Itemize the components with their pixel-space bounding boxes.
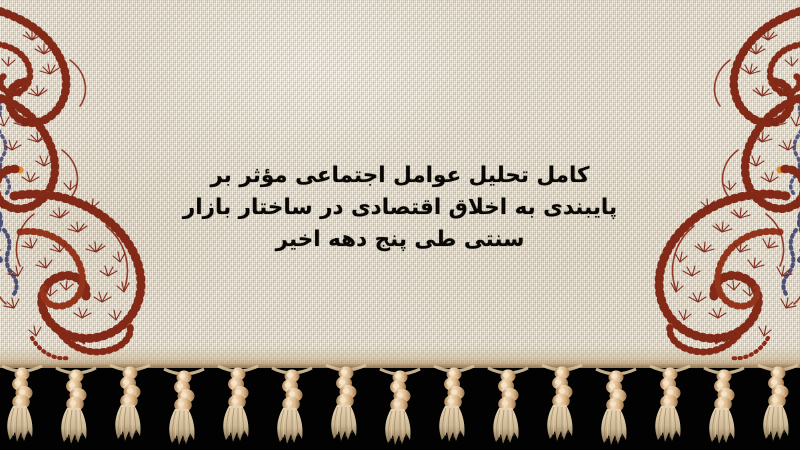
title-line-3: سنتی طی پنج دهه اخیر — [0, 224, 800, 256]
title-line-2: پایبندی به اخلاق اقتصادی در ساختار بازار — [0, 192, 800, 224]
tassel-row — [2, 365, 798, 445]
title-line-1: کامل تحلیل عوامل اجتماعی مؤثر بر — [0, 160, 800, 192]
slide-canvas: کامل تحلیل عوامل اجتماعی مؤثر بر پایبندی… — [0, 0, 800, 450]
tassel-fringe — [0, 360, 800, 450]
slide-title: کامل تحلیل عوامل اجتماعی مؤثر بر پایبندی… — [0, 160, 800, 256]
